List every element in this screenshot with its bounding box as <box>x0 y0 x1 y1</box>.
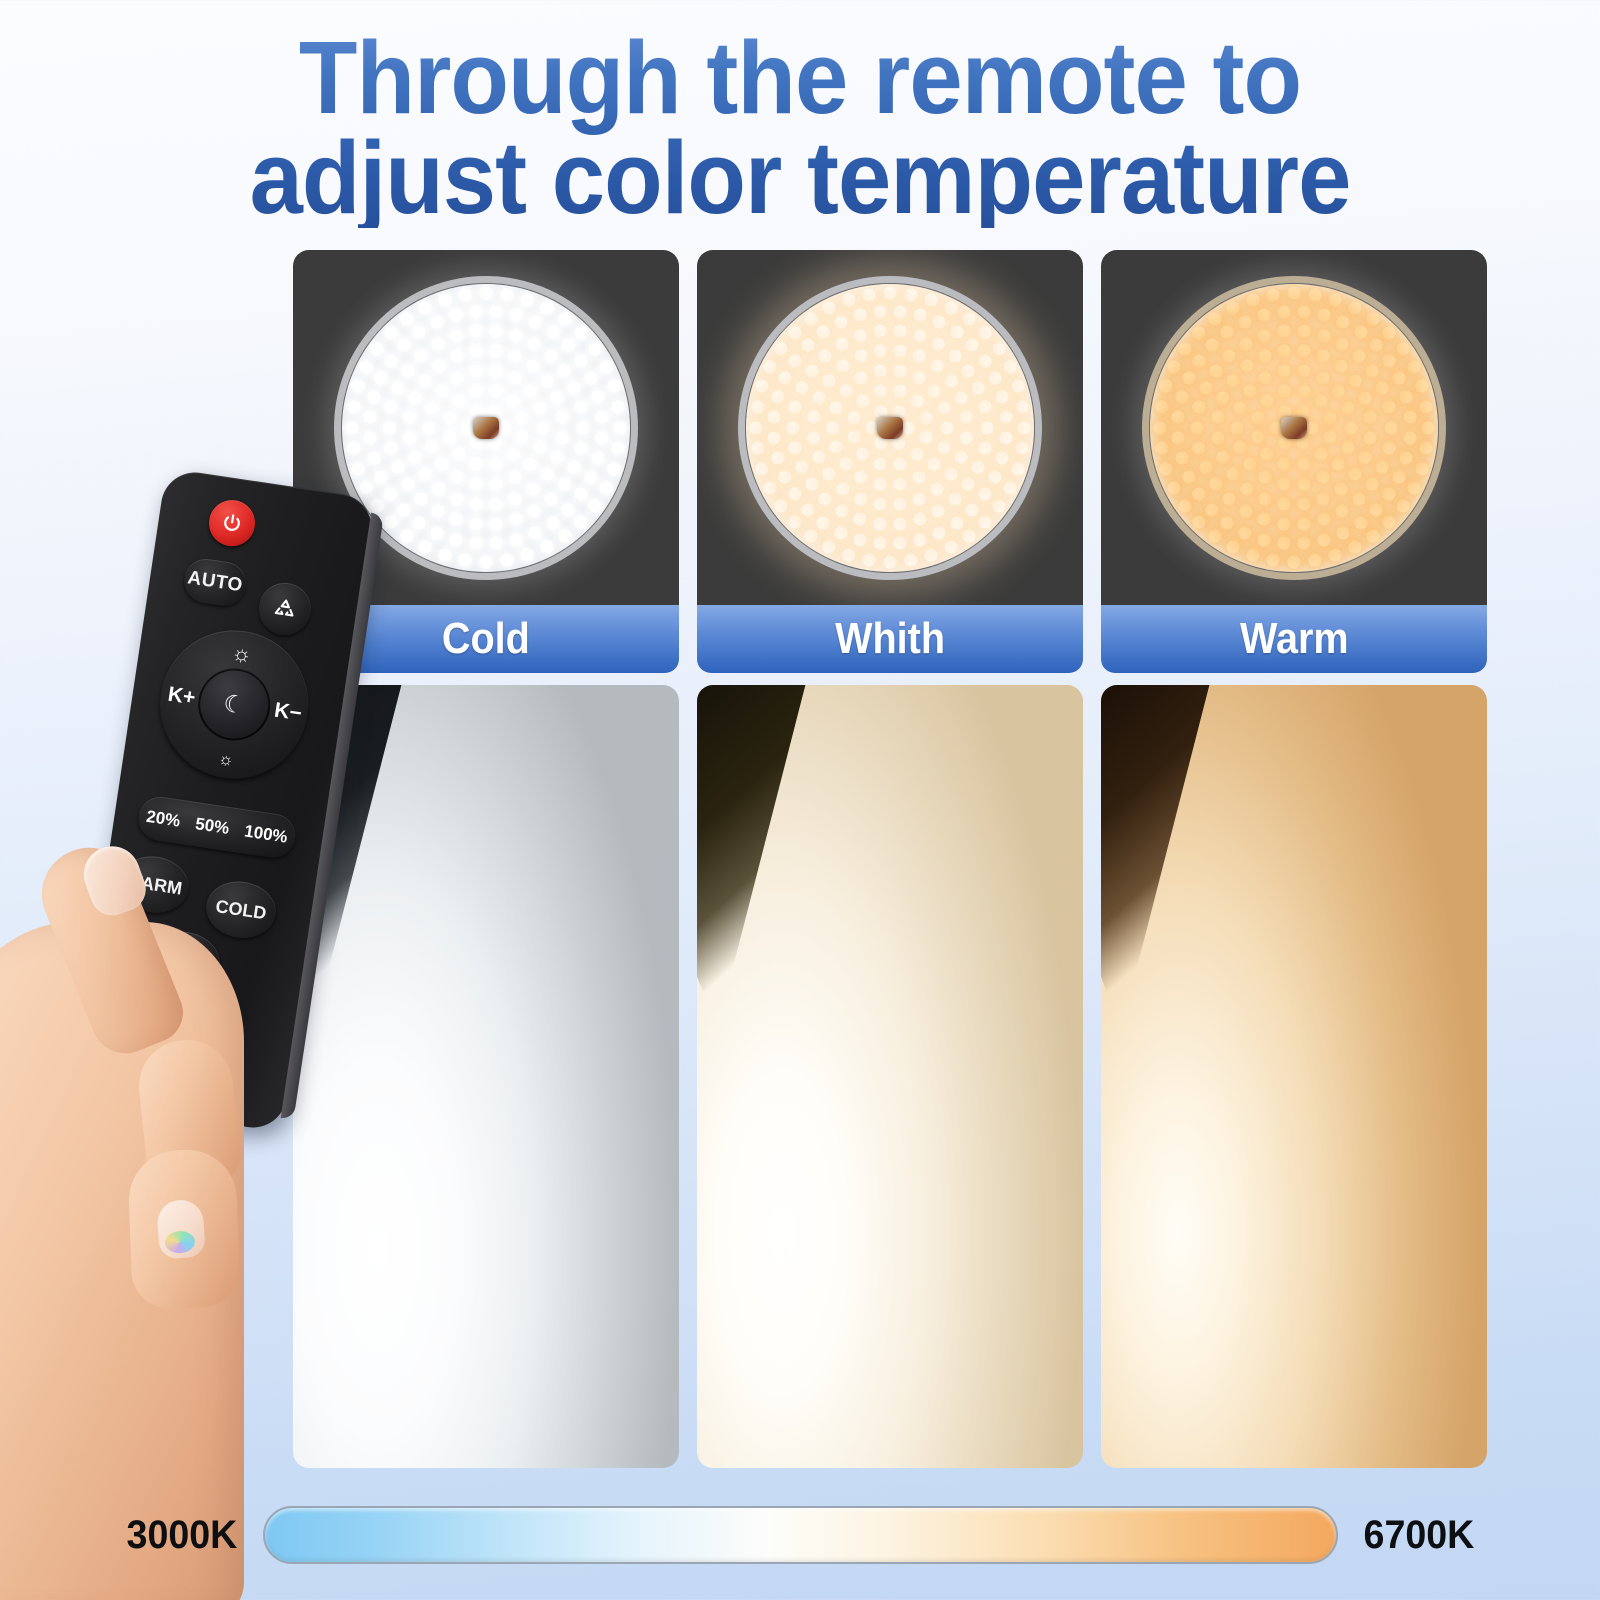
panel-white: Whith <box>697 250 1083 673</box>
wall-photo-white <box>697 685 1083 1468</box>
warm-button[interactable]: WARM <box>115 852 193 918</box>
index-finger <box>134 1035 243 1194</box>
temp-gradient-bar[interactable] <box>263 1506 1338 1564</box>
night-moon-star-icon: ☾ <box>221 689 247 721</box>
led-disc-white <box>738 276 1042 580</box>
decorated-fingernail <box>156 1198 206 1259</box>
palm <box>0 922 244 1600</box>
panel-label-cold: Cold <box>293 605 679 673</box>
headline-line-1: Through the remote to <box>299 20 1301 135</box>
headline-line-2: adjust color temperature <box>250 120 1351 235</box>
led-disc-warm <box>1142 276 1446 580</box>
temp-max-label: 6700K <box>1360 1513 1478 1558</box>
led-rim <box>1142 276 1446 580</box>
night-mode-button[interactable]: ☾ <box>193 664 275 746</box>
color-temperature-scale: 3000K 6700K <box>0 1506 1600 1564</box>
panel-cold: Cold <box>293 250 679 673</box>
led-module-row: Cold Whith <box>293 250 1487 673</box>
auto-button[interactable]: AUTO <box>181 556 249 609</box>
led-disc-cold <box>334 276 638 580</box>
hand <box>0 802 320 1600</box>
wall-photo-row <box>293 685 1487 1468</box>
cold-button-label: COLD <box>214 896 268 924</box>
panel-warm: Warm <box>1101 250 1487 673</box>
preset-20-button[interactable]: 20% <box>145 807 182 832</box>
thumb <box>28 834 192 1063</box>
led-photo-cold <box>293 250 679 605</box>
white-button[interactable]: WHITE <box>144 927 224 995</box>
led-photo-white <box>697 250 1083 605</box>
brightness-down-sun-icon[interactable]: ☼ <box>217 749 235 771</box>
wall-photo-cold <box>293 685 679 1468</box>
comparison-grid: Cold Whith <box>293 250 1487 1468</box>
preset-50-button[interactable]: 50% <box>194 814 231 839</box>
preset-100-button[interactable]: 100% <box>243 821 289 847</box>
cold-button[interactable]: COLD <box>202 877 280 943</box>
brightness-up-sun-icon[interactable]: ☼ <box>230 640 254 669</box>
middle-finger <box>127 1148 240 1310</box>
led-rim <box>334 276 638 580</box>
power-icon <box>220 511 245 536</box>
panel-label-warm: Warm <box>1101 605 1487 673</box>
auto-button-label: AUTO <box>186 567 244 597</box>
temp-min-label: 3000K <box>123 1513 241 1558</box>
led-photo-warm <box>1101 250 1487 605</box>
wall-photo-warm <box>1101 685 1487 1468</box>
kelvin-up-button[interactable]: K+ <box>166 683 197 711</box>
brightness-preset-bar[interactable]: 20% 50% 100% <box>136 794 299 861</box>
power-button[interactable] <box>206 497 258 549</box>
panel-label-white: Whith <box>697 605 1083 673</box>
thumbnail <box>76 838 152 921</box>
page-title: Through the remote toadjust color temper… <box>56 28 1544 228</box>
warm-button-label: WARM <box>124 870 183 899</box>
led-rim <box>738 276 1042 580</box>
white-button-label: WHITE <box>154 946 214 975</box>
